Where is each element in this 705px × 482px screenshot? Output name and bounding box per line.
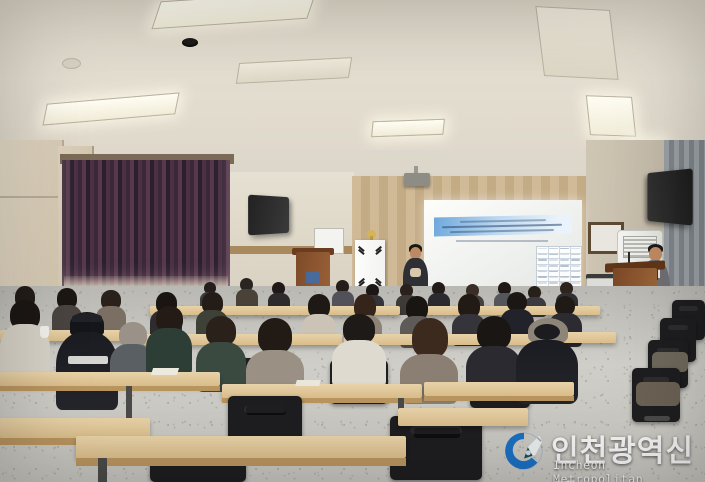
desk-edge bbox=[424, 396, 574, 401]
watermark-english-text: Incheon Metropolitan newspaper bbox=[553, 458, 701, 482]
wall-speaker-left bbox=[248, 195, 289, 236]
desk-edge bbox=[0, 386, 220, 391]
slide-title-line bbox=[442, 224, 562, 229]
desk-leg bbox=[98, 458, 107, 482]
photo-scene: 인천광역신문 Incheon Metropolitan newspaper bbox=[0, 0, 705, 482]
seated-attendee bbox=[0, 300, 50, 378]
desk-edge bbox=[76, 458, 406, 466]
seated-attendee bbox=[146, 306, 192, 372]
seated-attendee-black-puffer bbox=[56, 312, 118, 408]
slide-title-banner bbox=[434, 215, 572, 237]
hair bbox=[477, 316, 511, 350]
slide-title-line bbox=[460, 219, 546, 222]
paper-cup bbox=[40, 326, 49, 338]
cap-brim bbox=[72, 313, 102, 322]
head bbox=[534, 324, 560, 340]
wall-speaker-right bbox=[647, 168, 692, 225]
desk-row-front bbox=[0, 418, 150, 438]
podium-emblem bbox=[306, 272, 320, 283]
ceiling-light bbox=[236, 57, 352, 84]
watermark: 인천광역신문 Incheon Metropolitan newspaper bbox=[503, 424, 701, 478]
desk-leg bbox=[126, 386, 132, 422]
torso bbox=[332, 340, 386, 388]
ceiling-projector bbox=[404, 173, 430, 186]
jacket-back-text bbox=[68, 356, 108, 364]
paper-sheet bbox=[295, 380, 321, 386]
chair-base bbox=[644, 416, 670, 421]
desk-row bbox=[0, 372, 220, 386]
slide-title-line bbox=[450, 228, 554, 232]
ceiling-light bbox=[42, 92, 179, 125]
hands bbox=[410, 268, 421, 277]
pen-nib-circle-logo bbox=[503, 430, 545, 472]
puffer-jacket bbox=[56, 332, 118, 410]
desk-row bbox=[424, 382, 574, 396]
ceiling-light bbox=[371, 119, 445, 138]
seated-attendee bbox=[332, 314, 386, 386]
paper-sheet bbox=[151, 368, 179, 375]
desk-row-front bbox=[76, 436, 406, 458]
head bbox=[649, 247, 662, 261]
seated-attendee bbox=[236, 278, 258, 306]
chair-handle-hole bbox=[414, 428, 460, 438]
hair bbox=[258, 318, 292, 354]
hair bbox=[412, 318, 448, 358]
ceiling-light bbox=[151, 0, 316, 29]
smoke-detector-icon bbox=[62, 58, 81, 69]
coat-on-chair bbox=[636, 382, 680, 406]
ceiling-light bbox=[586, 95, 636, 137]
slide-subtitle-line bbox=[456, 240, 548, 242]
chair-handle-hole bbox=[246, 406, 286, 415]
ceiling-light bbox=[535, 6, 618, 80]
ceiling-sensor-icon bbox=[182, 38, 198, 47]
